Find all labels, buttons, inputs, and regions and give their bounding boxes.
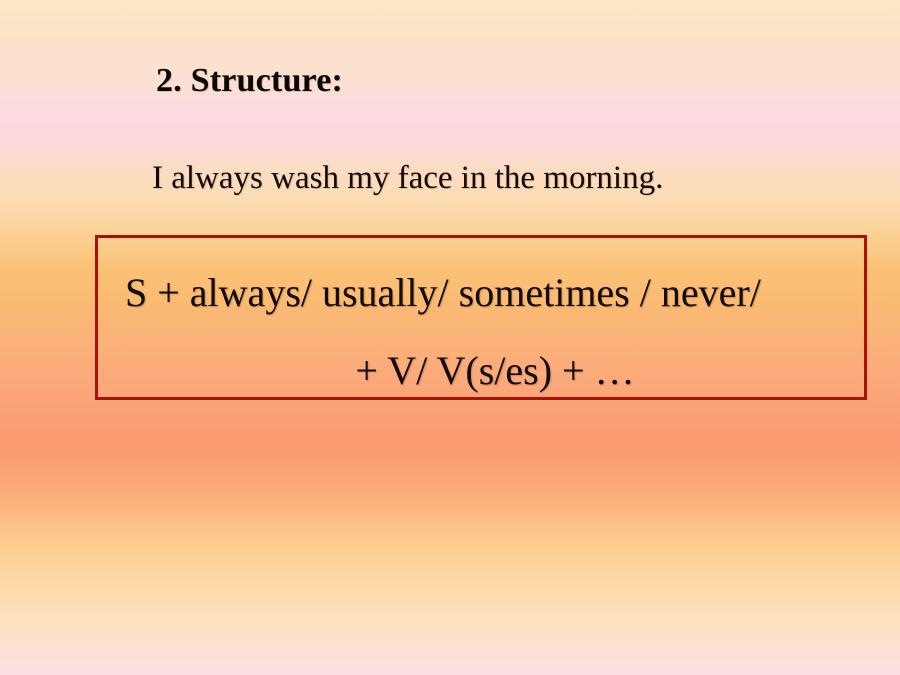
page-title: 2. Structure: (156, 62, 343, 100)
formula-line-subject-adverbs: S + always/ usually/ sometimes / never/ (125, 269, 761, 316)
example-sentence: I always wash my face in the morning. (152, 160, 663, 197)
formula-box: S + always/ usually/ sometimes / never/ … (95, 235, 867, 400)
slide-canvas: 2. Structure: I always wash my face in t… (0, 0, 900, 675)
formula-line-verb: + V/ V(s/es) + … (98, 347, 864, 394)
